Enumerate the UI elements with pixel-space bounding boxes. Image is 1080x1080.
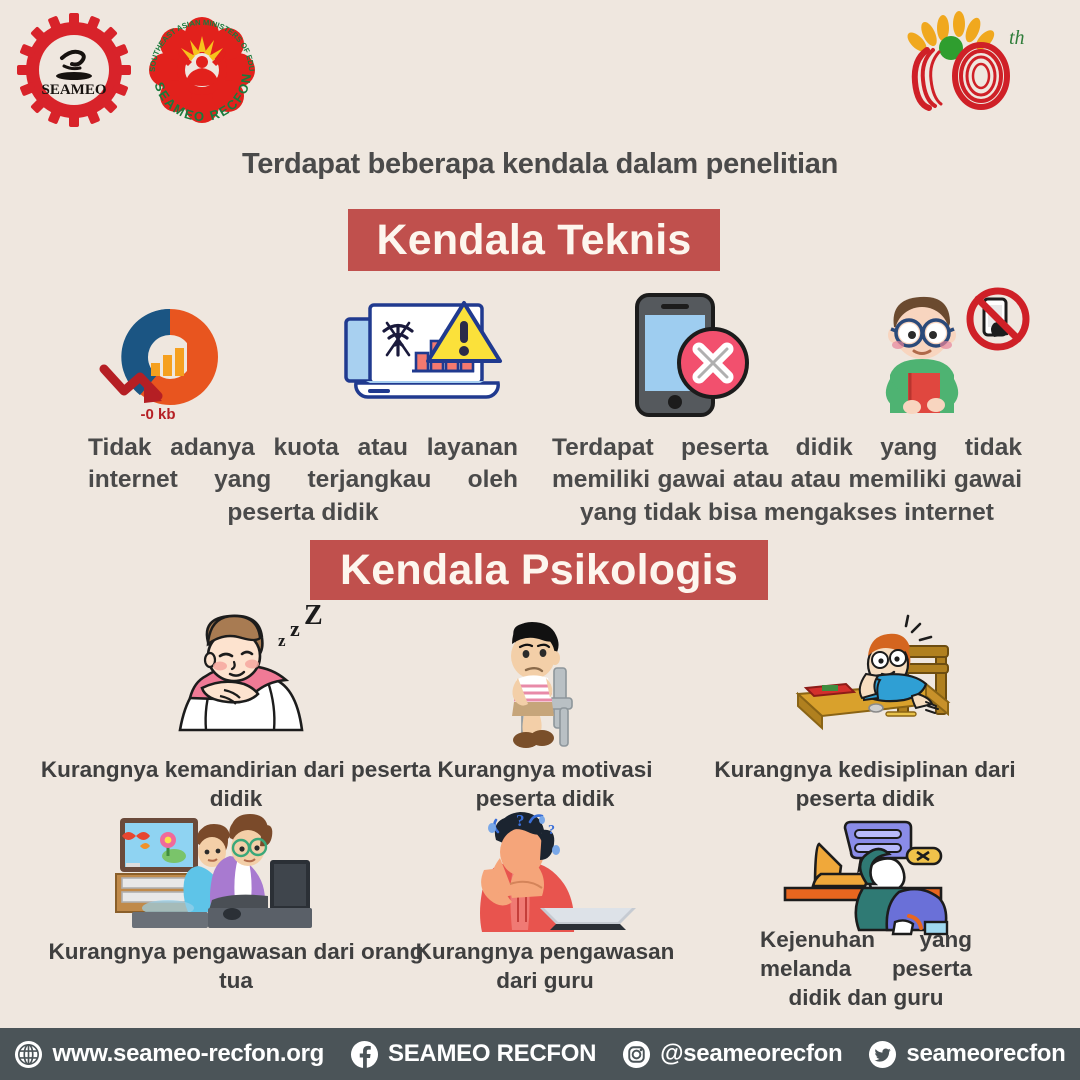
psych-caption-5: Kurangnya pengawasan dari guru <box>400 938 690 996</box>
svg-text:SEAMEO: SEAMEO <box>41 82 106 98</box>
technical-item-1-text: Tidak adanya kuota atau layanan internet… <box>88 432 518 529</box>
svg-text:z: z <box>290 616 300 641</box>
student-no-phone-icon <box>860 287 1030 419</box>
seameo-logo: SEAMEO <box>18 14 130 126</box>
psych-caption-1: Kurangnya kemandirian dari peserta didik <box>36 756 436 814</box>
footer-label-instagram: @seameorecfon <box>660 1040 842 1068</box>
footer-label-website: www.seameo-recfon.org <box>52 1040 324 1068</box>
footer-link-twitter[interactable]: seameorecfon <box>868 1040 1065 1069</box>
banner-kendala-teknis: Kendala Teknis <box>348 209 720 271</box>
psych-caption-4: Kurangnya pengawasan dari orang tua <box>36 938 436 996</box>
page-title: Terdapat beberapa kendala dalam peneliti… <box>0 148 1080 181</box>
stressed-teacher-laptop-icon: ? ? <box>470 812 650 934</box>
globe-icon <box>14 1040 43 1069</box>
header: SEAMEO <box>0 0 1080 130</box>
banner-kendala-psikologis: Kendala Psikologis <box>310 540 768 600</box>
svg-text:z: z <box>278 631 286 650</box>
psych-caption-3: Kurangnya kedisiplinan dari peserta didi… <box>700 756 1030 814</box>
psych-caption-6: Kejenuhan yang melanda peserta didik dan… <box>760 926 972 1012</box>
svg-text:?: ? <box>516 811 525 830</box>
svg-text:th: th <box>1009 27 1025 49</box>
footer-label-twitter: seameorecfon <box>906 1040 1065 1068</box>
footer-link-website[interactable]: www.seameo-recfon.org <box>14 1040 324 1069</box>
sleeping-student-icon: z z Z <box>150 612 350 742</box>
bored-child-chair-icon <box>488 622 618 748</box>
busy-working-parent-icon <box>112 816 312 928</box>
svg-text:Z: Z <box>304 600 323 631</box>
chart-label: -0 kb <box>140 406 175 423</box>
twitter-icon <box>868 1040 897 1069</box>
frustrated-student-desk-icon <box>770 616 950 748</box>
svg-text:?: ? <box>548 823 555 838</box>
facebook-icon <box>350 1040 379 1069</box>
footer-label-facebook: SEAMEO RECFON <box>388 1040 596 1068</box>
phone-no-signal-icon <box>625 291 755 419</box>
instagram-icon <box>622 1040 651 1069</box>
footer-link-instagram[interactable]: @seameorecfon <box>622 1040 842 1069</box>
technical-icons-row: -0 kb <box>0 283 1080 423</box>
technical-item-2-text: Terdapat peserta didik yang tidak memili… <box>552 432 1022 529</box>
data-quota-chart-icon: -0 kb <box>100 291 240 421</box>
seameo-recfon-logo: SOUTHEAST ASIAN MINISTERS OF EDUCATION O… <box>140 10 265 128</box>
psych-caption-2: Kurangnya motivasi peserta didik <box>400 756 690 814</box>
laptop-wifi-warning-icon <box>340 293 505 418</box>
footer-link-facebook[interactable]: SEAMEO RECFON <box>350 1040 596 1069</box>
anniversary-logo: th <box>897 8 1032 112</box>
burnout-desk-icon <box>775 818 951 934</box>
footer-social-bar: www.seameo-recfon.org SEAMEO RECFON @sea… <box>0 1028 1080 1080</box>
